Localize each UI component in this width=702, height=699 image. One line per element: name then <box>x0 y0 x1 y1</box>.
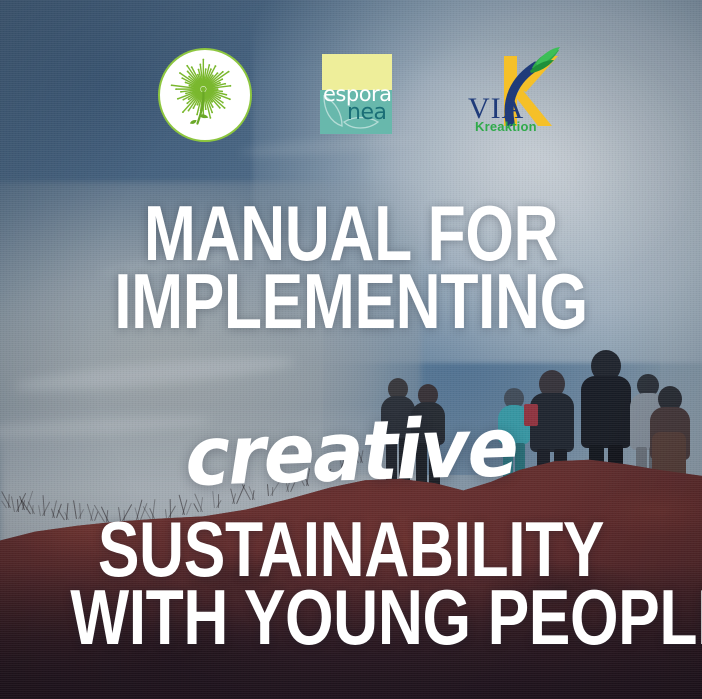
title-block: MANUAL FOR IMPLEMENTING creative SUSTAIN… <box>0 0 702 699</box>
title-line-implementing: IMPLEMENTING <box>70 268 632 335</box>
title-script-creative: creative <box>27 402 675 504</box>
title-line-with-young-people: WITH YOUNG PEOPLE <box>70 584 632 651</box>
cover-poster: espora nea VIA Kreaktion MANUAL FOR IMP <box>0 0 702 699</box>
